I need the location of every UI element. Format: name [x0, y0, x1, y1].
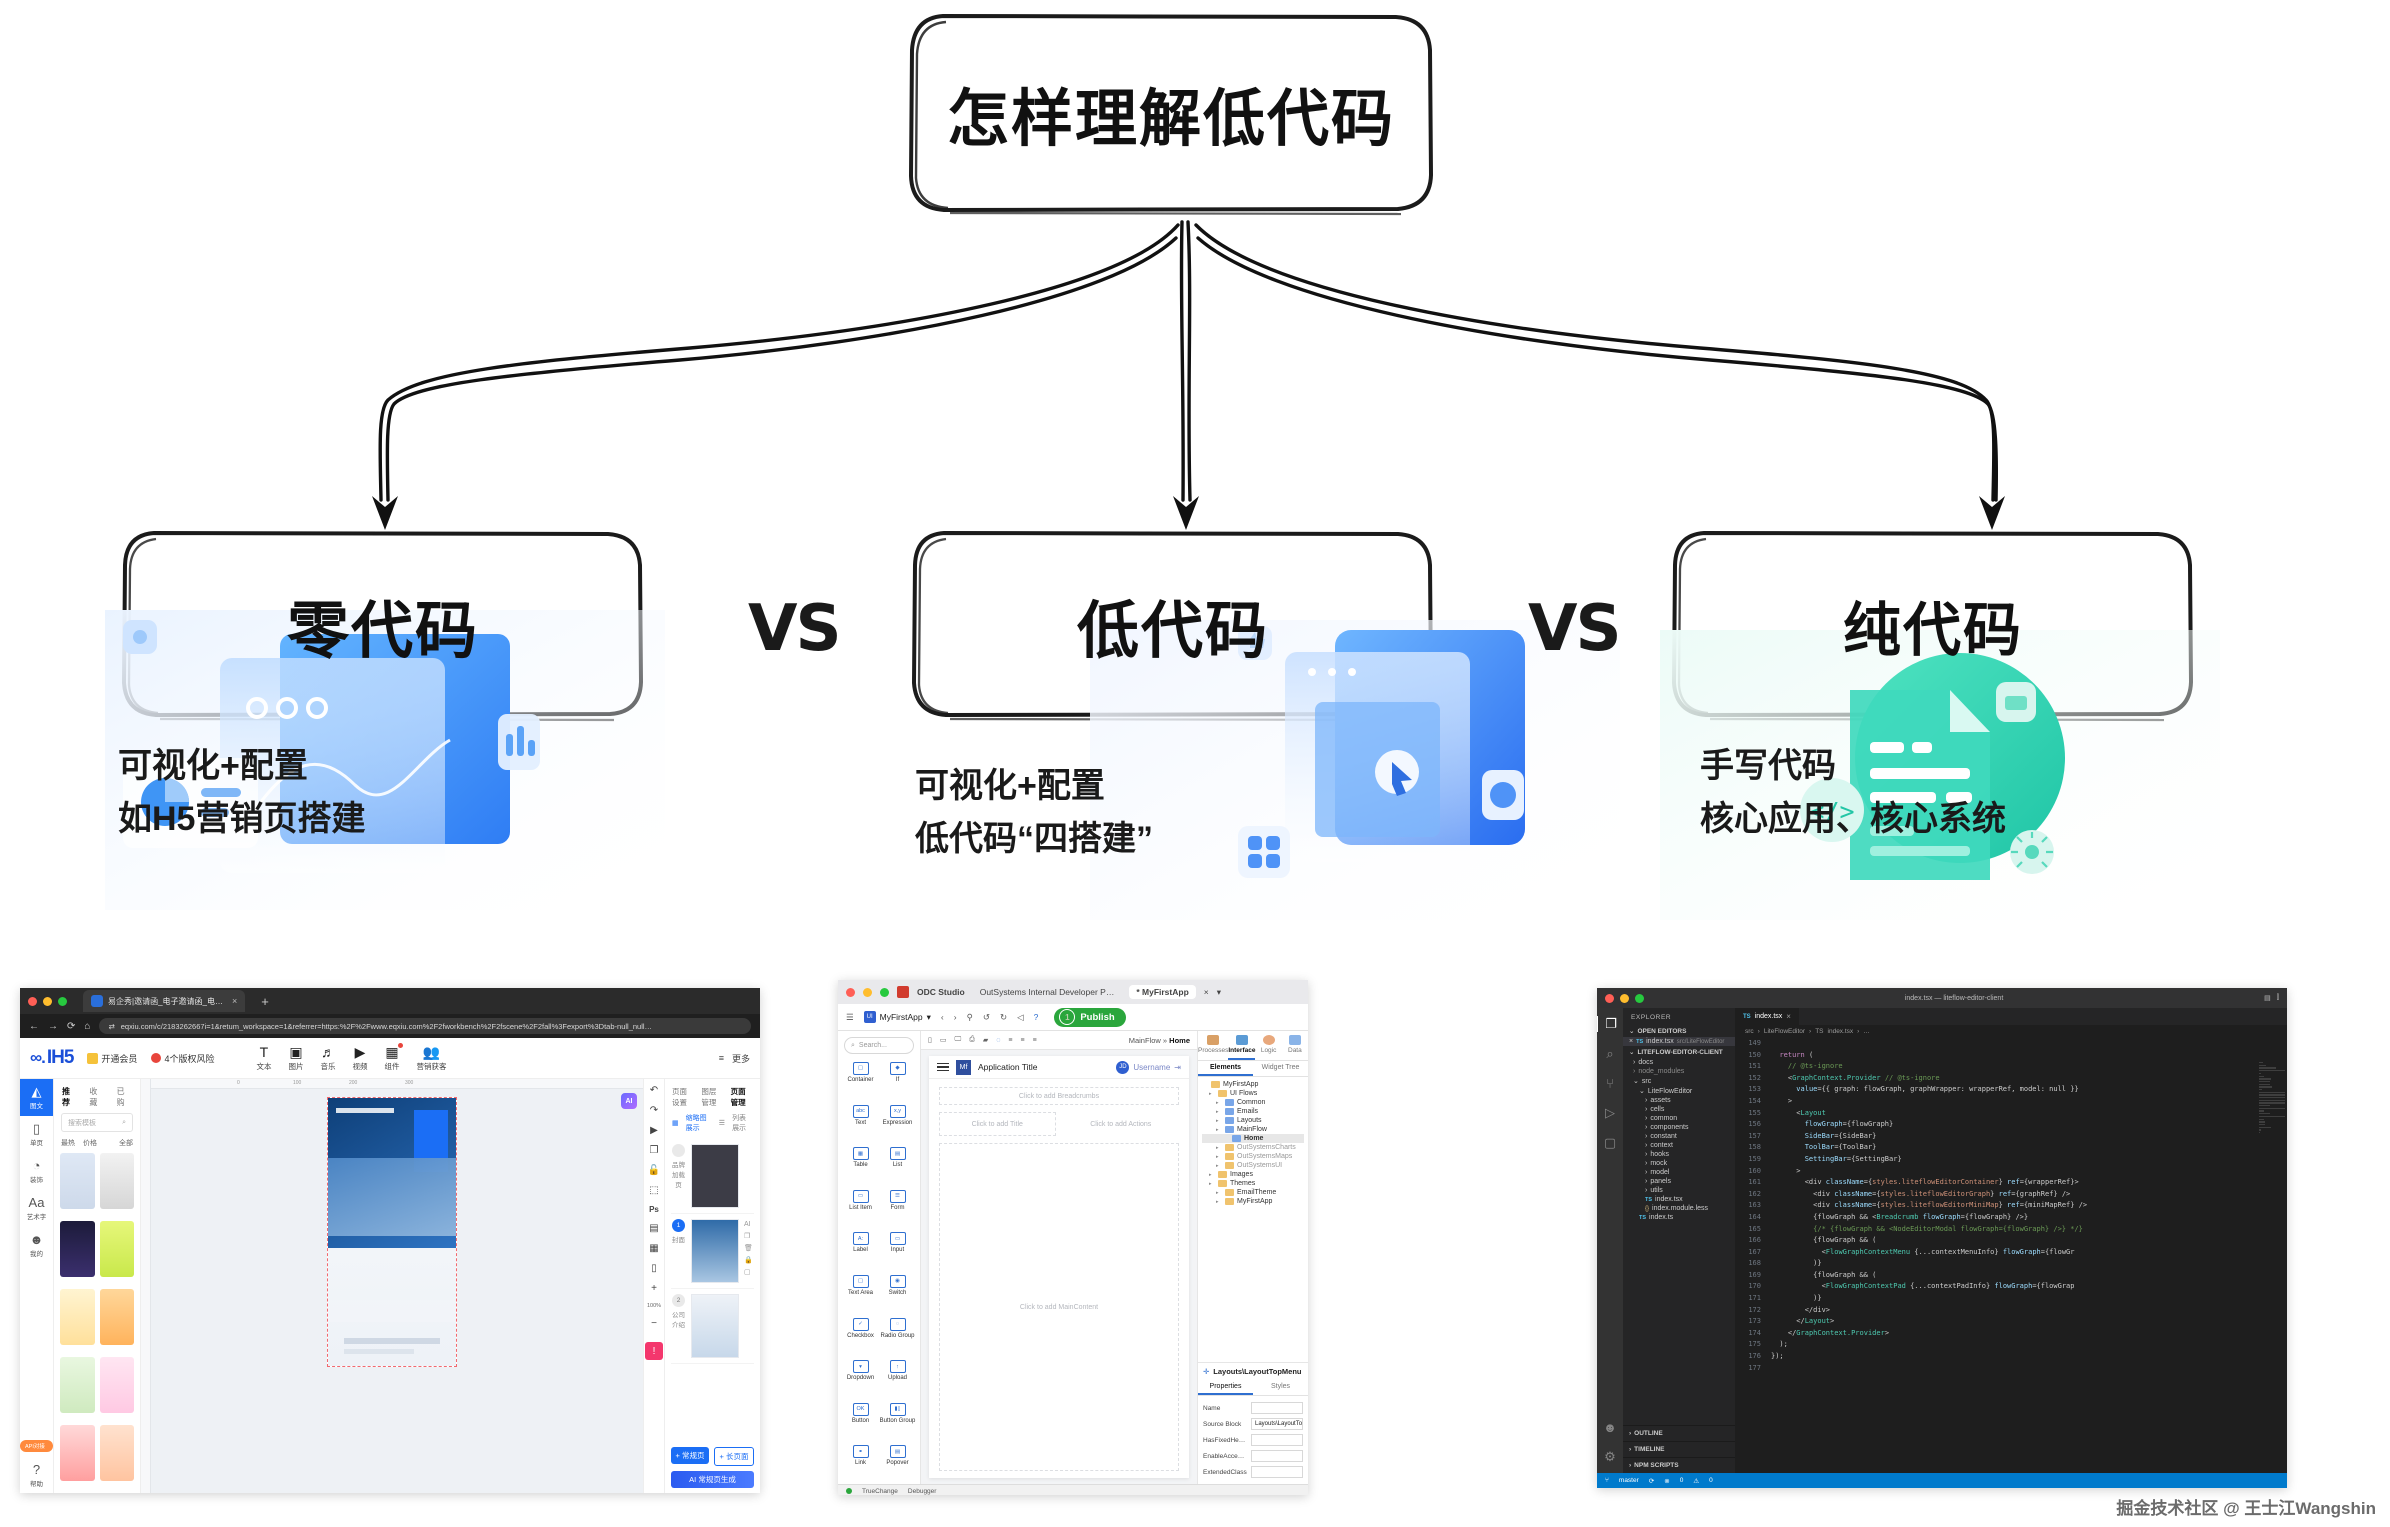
site-info-icon[interactable]: ⇄: [108, 1022, 114, 1031]
property-value-input[interactable]: [1251, 1450, 1303, 1462]
tab-styles[interactable]: Styles: [1253, 1380, 1308, 1395]
breadcrumb-src[interactable]: src: [1745, 1028, 1754, 1035]
widget-expression[interactable]: x,yExpression: [879, 1105, 916, 1142]
new-badge-dot: [398, 1043, 403, 1048]
breadcrumb-file[interactable]: index.tsx: [1828, 1028, 1854, 1035]
tab-overflow-icon[interactable]: ▾: [1217, 987, 1221, 998]
file-item-panels[interactable]: ›panels: [1623, 1177, 1735, 1186]
chevron-right-icon[interactable]: ›: [1645, 1151, 1647, 1158]
list-view-icon[interactable]: ☰: [719, 1119, 725, 1127]
tab-data[interactable]: Data: [1282, 1031, 1308, 1060]
widget-label: List: [893, 1162, 902, 1169]
tab-processes[interactable]: Processes: [1198, 1031, 1228, 1060]
line-number: 149: [1735, 1038, 1761, 1050]
rail-label: 图文: [30, 1100, 43, 1110]
tree-node-themes[interactable]: ▸Themes: [1202, 1179, 1304, 1188]
widget-text[interactable]: abcText: [842, 1105, 879, 1142]
interface-icon: [1236, 1035, 1248, 1045]
property-value-input[interactable]: Layouts\LayoutTopMenu: [1251, 1418, 1303, 1430]
code-line: });: [1771, 1351, 2287, 1363]
widget-if[interactable]: ◆If: [879, 1062, 916, 1099]
tree-node-ui-flows[interactable]: ▸UI Flows: [1202, 1089, 1304, 1098]
rail-item-tuwen[interactable]: ◭ 图文: [20, 1079, 53, 1116]
chevron-right-icon[interactable]: ›: [1645, 1169, 1647, 1176]
window-zoom-button[interactable]: [58, 997, 67, 1006]
device-icon[interactable]: ▯: [651, 1263, 657, 1274]
chevron-right-icon[interactable]: ›: [1645, 1178, 1647, 1185]
preview-user-chip[interactable]: JD Username ⇥: [1116, 1061, 1181, 1074]
extensions-icon[interactable]: ▢: [1604, 1135, 1616, 1151]
hamburger-menu-icon[interactable]: ☰: [846, 1012, 854, 1023]
odc-tab-myfirstapp[interactable]: * MyFirstApp: [1129, 985, 1195, 999]
redo-icon[interactable]: ↻: [1000, 1012, 1007, 1023]
filter-all[interactable]: 全部: [119, 1138, 133, 1148]
grid-icon[interactable]: ▦: [649, 1243, 658, 1254]
tab-logic[interactable]: Logic: [1255, 1031, 1281, 1060]
app-selector[interactable]: UI MyFirstApp ▾: [864, 1011, 931, 1023]
file-item-src[interactable]: ⌄src: [1623, 1076, 1735, 1086]
template-search-input[interactable]: 搜索模板 ⌕: [61, 1113, 133, 1132]
template-card[interactable]: [100, 1425, 135, 1481]
line-number: 155: [1735, 1108, 1761, 1120]
file-item-cells[interactable]: ›cells: [1623, 1105, 1735, 1114]
file-label: src: [1642, 1078, 1651, 1085]
root-node-label: 怎样理解低代码: [906, 68, 1436, 158]
sync-icon[interactable]: ⟳: [1649, 1477, 1654, 1485]
chevron-right-icon[interactable]: ›: [1645, 1097, 1647, 1104]
run-debug-icon[interactable]: ▷: [1605, 1105, 1615, 1121]
grid-view-icon[interactable]: ▦: [672, 1119, 679, 1127]
template-card[interactable]: [100, 1153, 135, 1209]
palette-icon: ◔: [33, 1159, 41, 1172]
placeholder-actions[interactable]: Click to add Actions: [1063, 1112, 1180, 1136]
line-number-gutter: 1491501511521531541551561571581591601611…: [1735, 1038, 1767, 1473]
widget-input[interactable]: ▭Input: [879, 1232, 916, 1269]
explorer-icon[interactable]: ❐: [1597, 1016, 1624, 1032]
minimap[interactable]: [2259, 1058, 2285, 1455]
ps-import-icon[interactable]: Ps: [649, 1205, 659, 1214]
file-item-index-ts[interactable]: TSindex.ts: [1623, 1213, 1735, 1222]
image-icon: ▣: [289, 1045, 302, 1059]
chevron-right-icon[interactable]: ›: [1645, 1160, 1647, 1167]
file-item-mock[interactable]: ›mock: [1623, 1159, 1735, 1168]
widget-list[interactable]: ▤List: [879, 1147, 916, 1184]
page-list-item[interactable]: 品牌加载页: [671, 1139, 754, 1214]
page-list-item[interactable]: 2 公司介绍: [671, 1289, 754, 1364]
caption-line: 可视化+配置: [915, 760, 1153, 813]
toolbar-item-music[interactable]: ♬ 音乐: [320, 1045, 335, 1072]
code-content[interactable]: return ( // @ts-ignore <GraphContext.Pro…: [1767, 1038, 2287, 1473]
publish-label: Publish: [1080, 1012, 1114, 1023]
membership-button[interactable]: 开通会员: [87, 1052, 137, 1065]
list-view-label[interactable]: 列表展示: [732, 1113, 753, 1133]
new-tab-button[interactable]: +: [261, 994, 269, 1009]
search-icon[interactable]: ⌕: [122, 1119, 126, 1127]
template-card[interactable]: [100, 1357, 135, 1413]
disclosure-icon[interactable]: ▸: [1216, 1118, 1222, 1124]
file-label: assets: [1650, 1097, 1670, 1104]
widget-list-item[interactable]: ▭List Item: [842, 1190, 879, 1227]
zoom-in-icon[interactable]: +: [651, 1283, 657, 1294]
chevron-right-icon[interactable]: ›: [1645, 1187, 1647, 1194]
file-item-common[interactable]: ›common: [1623, 1114, 1735, 1123]
widget-label[interactable]: A:Label: [842, 1232, 879, 1269]
tab-close-icon[interactable]: ×: [232, 996, 237, 1006]
theme-icon[interactable]: ◌: [996, 1037, 1000, 1044]
tab-layer-manage[interactable]: 图层管理: [701, 1086, 723, 1108]
thumbnail-view-label[interactable]: 缩略图展示: [686, 1113, 712, 1133]
align-center-icon[interactable]: ≡: [1021, 1037, 1025, 1044]
truechange-label[interactable]: TrueChange: [862, 1488, 898, 1495]
checkbox-icon: ✓: [853, 1318, 869, 1331]
widget-switch[interactable]: ◉Switch: [879, 1275, 916, 1312]
chevron-right-icon[interactable]: ›: [1633, 1068, 1635, 1075]
branch-name[interactable]: master: [1619, 1477, 1639, 1484]
file-item-context[interactable]: ›context: [1623, 1141, 1735, 1150]
page-list-item[interactable]: 1 封面 AI ❐ 🗑 🔒 ▢: [671, 1214, 754, 1289]
elements-tree: MyFirstApp▸UI Flows▸Common▸Emails▸Layout…: [1198, 1077, 1308, 1362]
code-editor[interactable]: 1491501511521531541551561571581591601611…: [1735, 1038, 2287, 1473]
section-npm-scripts[interactable]: › NPM SCRIPTS: [1623, 1457, 1735, 1473]
tree-node-mainflow[interactable]: ▸MainFlow: [1202, 1125, 1304, 1134]
open-editor-item[interactable]: × TS index.tsx src/LiteFlowEditor: [1623, 1037, 1735, 1046]
device-print-icon[interactable]: ⎙: [969, 1036, 975, 1044]
rail-item-help[interactable]: ? 帮助: [20, 1457, 53, 1493]
page-canvas-frame[interactable]: [327, 1097, 457, 1367]
undo-icon[interactable]: ↶: [650, 1085, 658, 1096]
file-item-assets[interactable]: ›assets: [1623, 1096, 1735, 1105]
screenshot-vscode[interactable]: index.tsx — liteflow-editor-client ▤ ⫿ ❐…: [1597, 988, 2287, 1488]
close-icon[interactable]: ×: [1629, 1038, 1633, 1045]
flow-icon: [1225, 1126, 1234, 1133]
tree-node-outsystemsmaps[interactable]: ▸OutSystemsMaps: [1202, 1152, 1304, 1161]
file-item-docs[interactable]: ›docs: [1623, 1058, 1735, 1067]
ih5-right-toolstrip: ↶ ↷ ▶ ❐ 🔓 ⬚ Ps ▤ ▦ ▯ + 100% − !: [643, 1079, 665, 1493]
window-minimize-button[interactable]: [863, 988, 872, 997]
template-card[interactable]: [60, 1425, 95, 1481]
close-icon[interactable]: ×: [1786, 1012, 1791, 1021]
tree-node-layouts[interactable]: ▸Layouts: [1202, 1116, 1304, 1125]
tab-interface[interactable]: Interface: [1228, 1031, 1255, 1060]
root-node[interactable]: 怎样理解低代码: [906, 10, 1436, 216]
delete-icon[interactable]: 🗑: [744, 1244, 753, 1252]
issue-alert-button[interactable]: !: [645, 1342, 663, 1360]
ai-icon[interactable]: AI: [744, 1221, 753, 1228]
disclosure-icon[interactable]: ▸: [1209, 1181, 1215, 1187]
screenshot-ih5-editor[interactable]: 易企秀|邀请函_电子邀请函_电… × + ← → ⟳ ⌂ ⇄ eqxiu.com…: [20, 988, 760, 1493]
tree-node-label: Home: [1244, 1135, 1263, 1142]
back-icon[interactable]: ←: [29, 1021, 39, 1032]
odc-canvas-area[interactable]: ▯ ▭ 🖵 ⎙ ▰ ◌ ≡ ≡ ≡ MainFlow » Home: [921, 1031, 1197, 1484]
rail-item-wode[interactable]: ☻ 我的: [20, 1227, 53, 1264]
odc-tab-portal[interactable]: OutSystems Internal Developer P…: [973, 985, 1122, 999]
canvas-wrapper: Mf Application Title JD Username ⇥ Click…: [921, 1050, 1197, 1484]
align-left-icon[interactable]: ≡: [1008, 1037, 1012, 1044]
node-low-code[interactable]: 低代码: [908, 527, 1438, 722]
template-card[interactable]: [60, 1357, 95, 1413]
rail-item-zhuangshi[interactable]: ◔ 装饰: [20, 1153, 53, 1190]
file-item-index-tsx[interactable]: TSindex.tsx: [1623, 1195, 1735, 1204]
banner-icon[interactable]: ▤: [649, 1223, 658, 1234]
disclosure-icon[interactable]: ▸: [1216, 1145, 1222, 1151]
error-count: 0: [1680, 1477, 1684, 1484]
section-open-editors[interactable]: ⌄ OPEN EDITORS: [1623, 1025, 1735, 1037]
chevron-right-icon[interactable]: ›: [1645, 1124, 1647, 1131]
widget-checkbox[interactable]: ✓Checkbox: [842, 1318, 879, 1355]
chevron-right-icon[interactable]: ›: [1645, 1106, 1647, 1113]
disclosure-icon[interactable]: ▸: [1209, 1091, 1215, 1097]
widget-dropdown[interactable]: ▾Dropdown: [842, 1360, 879, 1397]
tab-properties[interactable]: Properties: [1198, 1380, 1253, 1395]
rail-item-danye[interactable]: ▯ 单页: [20, 1116, 53, 1153]
tree-node-home[interactable]: Home: [1202, 1134, 1304, 1143]
ai-generate-page-button[interactable]: AI 常规页生成: [671, 1471, 754, 1488]
elements-widgettree-tabs: Elements Widget Tree: [1198, 1061, 1308, 1077]
zoom-out-icon[interactable]: −: [651, 1318, 657, 1329]
section-timeline[interactable]: › TIMELINE: [1623, 1441, 1735, 1457]
ih5-left-rail: ◭ 图文 ▯ 单页 ◔ 装饰 Aa 艺术字 ☻ 我的: [20, 1079, 54, 1493]
publish-button[interactable]: 1 Publish: [1054, 1008, 1125, 1027]
layout-panel-icon[interactable]: ▤: [2264, 994, 2271, 1002]
hamburger-menu-icon[interactable]: [937, 1063, 949, 1072]
device-desktop-icon[interactable]: 🖵: [954, 1036, 961, 1044]
widget-table[interactable]: ▦Table: [842, 1147, 879, 1184]
branch-icon[interactable]: ⑂: [1605, 1477, 1609, 1484]
home-icon[interactable]: ⌂: [84, 1021, 90, 1032]
widget-button-group[interactable]: ▮▯Button Group: [879, 1403, 916, 1440]
debug-icon[interactable]: ⚲: [967, 1012, 973, 1023]
address-bar[interactable]: ⇄ eqxiu.com/c/2183262667i=1&retum_worksp…: [99, 1018, 751, 1034]
disclosure-icon[interactable]: ▸: [1216, 1100, 1222, 1106]
lock-icon[interactable]: 🔓: [648, 1165, 660, 1176]
tree-node-myfirstapp[interactable]: MyFirstApp: [1202, 1080, 1304, 1089]
chevron-down-icon[interactable]: ⌄: [1633, 1077, 1639, 1085]
file-item-components[interactable]: ›components: [1623, 1123, 1735, 1132]
screenshot-odc-studio[interactable]: ODC Studio OutSystems Internal Developer…: [838, 980, 1308, 1495]
copyright-risk-button[interactable]: 4个版权风险: [151, 1052, 214, 1065]
redo-icon[interactable]: ↷: [650, 1105, 658, 1116]
tree-node-outsystemscharts[interactable]: ▸OutSystemsCharts: [1202, 1143, 1304, 1152]
disclosure-icon[interactable]: ▸: [1216, 1127, 1222, 1133]
device-phone-icon[interactable]: ▯: [928, 1036, 932, 1044]
placeholder-maincontent[interactable]: Click to add MainContent: [939, 1143, 1179, 1471]
widget-label: Label: [853, 1247, 868, 1254]
toolbar-label: 音乐: [320, 1061, 335, 1072]
nav-forward-icon[interactable]: ›: [954, 1012, 957, 1022]
copy-icon[interactable]: ❐: [650, 1145, 659, 1156]
undo-icon[interactable]: ↺: [983, 1012, 990, 1023]
template-card[interactable]: [60, 1153, 95, 1209]
template-card[interactable]: [60, 1289, 95, 1345]
window-minimize-button[interactable]: [1620, 994, 1629, 1003]
file-label: constant: [1650, 1133, 1676, 1140]
node-zero-code[interactable]: 零代码: [118, 527, 648, 722]
chevron-right-icon[interactable]: ›: [1633, 1059, 1635, 1066]
tree-node-outsystemsui[interactable]: ▸OutSystemsUI: [1202, 1161, 1304, 1170]
tab-purchased[interactable]: 已购: [117, 1086, 132, 1108]
disclosure-icon[interactable]: ▸: [1209, 1172, 1215, 1178]
widget-button[interactable]: OKButton: [842, 1403, 879, 1440]
line-number: 170: [1735, 1281, 1761, 1293]
logout-icon[interactable]: ⇥: [1174, 1063, 1181, 1072]
ih5-logo[interactable]: ∞. IH5: [30, 1047, 73, 1069]
breadcrumb-dir[interactable]: LiteFlowEditor: [1764, 1028, 1805, 1035]
window-zoom-button[interactable]: [880, 988, 889, 997]
toolbar-item-video[interactable]: ▶ 视频: [352, 1045, 367, 1072]
ts-file-icon: TS: [1645, 1197, 1652, 1203]
tab-recommended[interactable]: 推荐: [62, 1086, 77, 1108]
file-item-utils[interactable]: ›utils: [1623, 1186, 1735, 1195]
widget-link[interactable]: ⚭Link: [842, 1445, 879, 1482]
widget-upload[interactable]: ↑Upload: [879, 1360, 916, 1397]
tree-node-images[interactable]: ▸Images: [1202, 1170, 1304, 1179]
toolbar-item-marketing[interactable]: 👥 营销获客: [416, 1045, 446, 1072]
publish-count-badge: 1: [1059, 1009, 1075, 1025]
more-menu-icon[interactable]: ≡: [719, 1053, 724, 1063]
template-card[interactable]: [100, 1289, 135, 1345]
folder-icon: [1218, 1171, 1227, 1178]
window-close-button[interactable]: [846, 988, 855, 997]
add-normal-page-button[interactable]: + 常规页: [671, 1447, 709, 1464]
file-item-constant[interactable]: ›constant: [1623, 1132, 1735, 1141]
placeholder-breadcrumbs[interactable]: Click to add Breadcrumbs: [939, 1087, 1179, 1105]
page-preview[interactable]: Mf Application Title JD Username ⇥ Click…: [929, 1056, 1189, 1478]
device-tablet-icon[interactable]: ▭: [940, 1036, 947, 1044]
file-item-node_modules[interactable]: ›node_modules: [1623, 1067, 1735, 1076]
disclosure-icon[interactable]: ▸: [1216, 1109, 1222, 1115]
preview-icon[interactable]: ▶: [650, 1125, 658, 1136]
help-icon[interactable]: ?: [1034, 1012, 1039, 1022]
pages-view-mode: ▦ 缩略图展示 ☰ 列表展示: [665, 1113, 760, 1139]
editor-breadcrumb: src› LiteFlowEditor› TS index.tsx› …: [1735, 1025, 2287, 1038]
nav-back-icon[interactable]: ‹: [941, 1012, 944, 1022]
chevron-right-icon[interactable]: ›: [1645, 1115, 1647, 1122]
page-thumbnail[interactable]: [691, 1144, 739, 1208]
widget-form[interactable]: ☰Form: [879, 1190, 916, 1227]
chevron-right-icon: ›: [1629, 1430, 1631, 1437]
file-item-index-module-less[interactable]: {}index.module.less: [1623, 1204, 1735, 1213]
section-label: OUTLINE: [1634, 1430, 1663, 1437]
disclosure-icon[interactable]: ▸: [1216, 1199, 1222, 1205]
duplicate-icon[interactable]: ❐: [744, 1232, 753, 1240]
toolbar-item-image[interactable]: ▣ 图片: [288, 1045, 303, 1072]
tab-favorites[interactable]: 收藏: [89, 1086, 104, 1108]
list-item-icon: ▭: [853, 1190, 869, 1203]
tree-node-emails[interactable]: ▸Emails: [1202, 1107, 1304, 1116]
property-value-input[interactable]: [1251, 1402, 1303, 1414]
section-outline[interactable]: › OUTLINE: [1623, 1425, 1735, 1441]
tree-node-myfirstapp[interactable]: ▸MyFirstApp: [1202, 1197, 1304, 1206]
editor-tab-index-tsx[interactable]: TS index.tsx ×: [1735, 1008, 1799, 1025]
css-icon[interactable]: ▰: [983, 1036, 988, 1044]
feedback-icon[interactable]: ◁: [1017, 1012, 1024, 1023]
add-long-page-button[interactable]: + 长页面: [714, 1447, 754, 1466]
tree-node-common[interactable]: ▸Common: [1202, 1098, 1304, 1107]
property-value-input[interactable]: [1251, 1466, 1303, 1478]
api-badge[interactable]: API对接: [20, 1440, 53, 1452]
template-card[interactable]: [100, 1221, 135, 1277]
chevron-right-icon[interactable]: ›: [1645, 1133, 1647, 1140]
disclosure-icon[interactable]: ▸: [1216, 1154, 1222, 1160]
file-label: index.module.less: [1652, 1205, 1708, 1212]
forward-icon[interactable]: →: [48, 1021, 58, 1032]
page-thumbnail[interactable]: [691, 1219, 739, 1283]
widget-radio-group[interactable]: ◌Radio Group: [879, 1318, 916, 1355]
widget-container[interactable]: ▢Container: [842, 1062, 879, 1099]
window-minimize-button[interactable]: [43, 997, 52, 1006]
file-item-litefloweditor[interactable]: ⌄LiteFlowEditor: [1623, 1086, 1735, 1096]
filter-hot[interactable]: 最热: [61, 1138, 75, 1148]
chevron-right-icon[interactable]: ›: [1645, 1142, 1647, 1149]
tab-elements[interactable]: Elements: [1198, 1061, 1253, 1076]
filter-price[interactable]: 价格: [83, 1138, 97, 1148]
rail-item-yishuzi[interactable]: Aa 艺术字: [20, 1190, 53, 1227]
align-icon[interactable]: ⬚: [649, 1185, 658, 1196]
tree-node-emailtheme[interactable]: ▸EmailTheme: [1202, 1188, 1304, 1197]
page-thumbnail[interactable]: [691, 1294, 739, 1358]
widget-text-area[interactable]: ▢Text Area: [842, 1275, 879, 1312]
breadcrumb-more[interactable]: …: [1863, 1028, 1870, 1035]
tab-page-manage[interactable]: 页面管理: [731, 1086, 753, 1108]
tab-page-settings[interactable]: 页面设置: [672, 1086, 694, 1108]
node-pure-code[interactable]: 纯代码: [1668, 527, 2198, 722]
file-item-model[interactable]: ›model: [1623, 1168, 1735, 1177]
window-zoom-button[interactable]: [1635, 994, 1644, 1003]
toolbar-item-component[interactable]: ▦ 组件: [384, 1045, 399, 1072]
hide-icon[interactable]: ▢: [744, 1268, 753, 1276]
widget-search-input[interactable]: ⌕ Search...: [844, 1037, 914, 1054]
code-line: <div className={styles.liteflowEditorCon…: [1771, 1177, 2287, 1189]
lock-icon[interactable]: 🔒: [744, 1256, 753, 1264]
warning-icon[interactable]: ⚠: [1693, 1477, 1699, 1485]
ih5-canvas[interactable]: 0 100 200 300 AI: [141, 1079, 643, 1493]
settings-gear-icon[interactable]: ⚙: [1604, 1449, 1616, 1465]
reload-icon[interactable]: ⟳: [67, 1021, 75, 1032]
template-card[interactable]: [60, 1221, 95, 1277]
split-editor-icon[interactable]: ⫿: [2277, 994, 2279, 1002]
property-value-input[interactable]: [1251, 1434, 1303, 1446]
placeholder-title[interactable]: Click to add Title: [939, 1112, 1056, 1136]
tab-close-icon[interactable]: ×: [1204, 987, 1209, 997]
disclosure-icon[interactable]: ▸: [1216, 1190, 1222, 1196]
ai-assistant-button[interactable]: AI: [621, 1093, 637, 1109]
editor-tab-label: index.tsx: [1755, 1013, 1783, 1020]
less-file-icon: {}: [1645, 1206, 1649, 1212]
source-control-icon[interactable]: ⑂: [1606, 1076, 1614, 1091]
align-right-icon[interactable]: ≡: [1033, 1037, 1037, 1044]
window-close-button[interactable]: [1605, 994, 1614, 1003]
error-icon[interactable]: ⊗: [1664, 1477, 1669, 1485]
section-project-root[interactable]: ⌄ LITEFLOW-EDITOR-CLIENT: [1623, 1046, 1735, 1058]
browser-tab[interactable]: 易企秀|邀请函_电子邀请函_电… ×: [83, 990, 245, 1012]
account-icon[interactable]: ☻: [1603, 1420, 1617, 1435]
debugger-label[interactable]: Debugger: [908, 1488, 937, 1495]
window-close-button[interactable]: [28, 997, 37, 1006]
page-icon: [1232, 1135, 1241, 1142]
disclosure-icon[interactable]: ▸: [1216, 1163, 1222, 1169]
chevron-down-icon[interactable]: ▾: [927, 1012, 931, 1023]
file-item-hooks[interactable]: ›hooks: [1623, 1150, 1735, 1159]
sidebar-title: EXPLORER: [1623, 1008, 1735, 1025]
tab-widget-tree[interactable]: Widget Tree: [1253, 1061, 1308, 1076]
breadcrumb-flow[interactable]: MainFlow: [1129, 1036, 1161, 1045]
toolbar-item-text[interactable]: T 文本: [256, 1045, 271, 1072]
widget-label: Container: [847, 1077, 873, 1084]
search-icon[interactable]: ⌕: [1606, 1046, 1613, 1062]
property-label: Name: [1203, 1405, 1247, 1412]
chevron-down-icon[interactable]: ⌄: [1639, 1087, 1645, 1095]
widget-popover[interactable]: ▤Popover: [879, 1445, 916, 1482]
